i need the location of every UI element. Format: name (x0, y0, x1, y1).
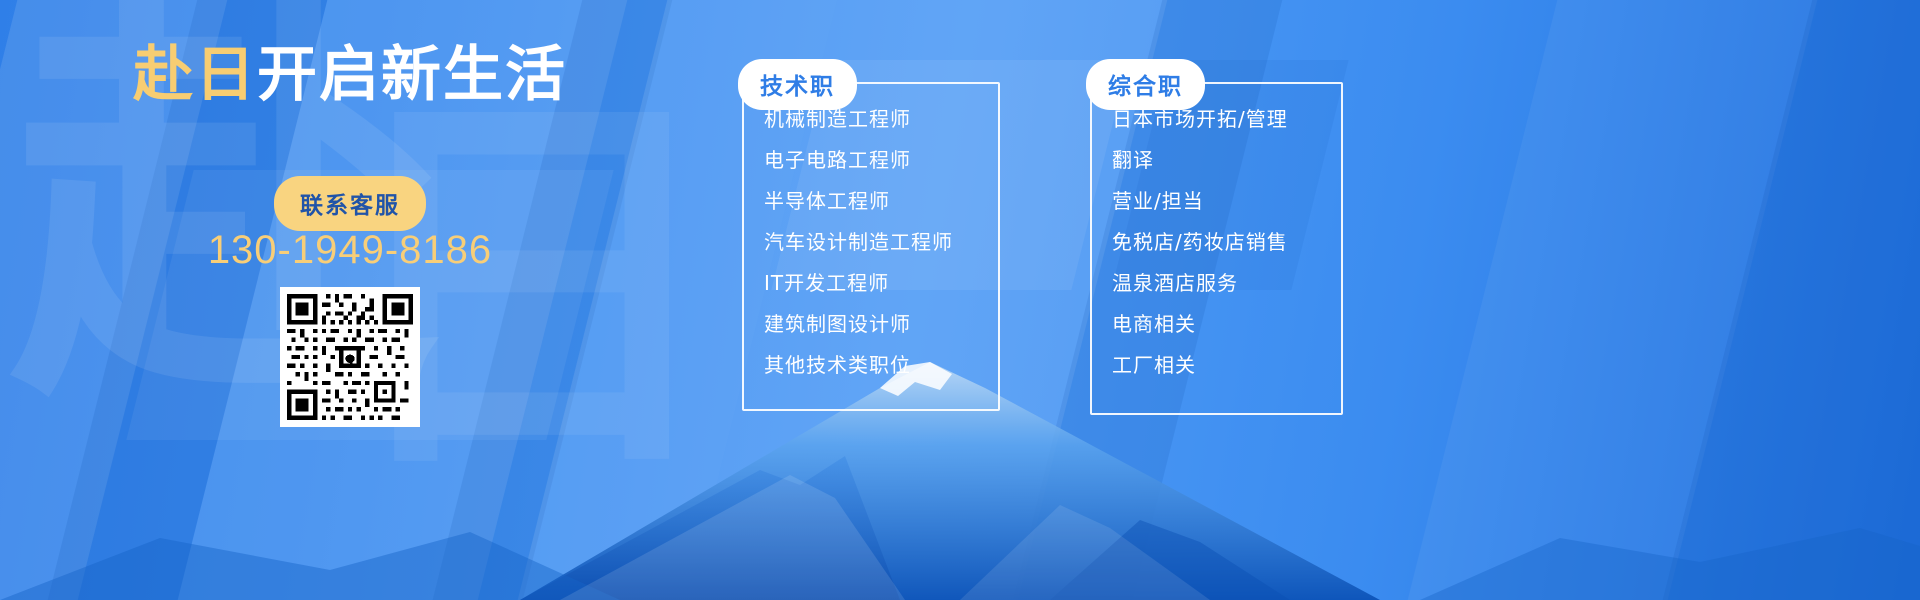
list-item[interactable]: 电子电路工程师 (764, 150, 1000, 170)
list-item[interactable]: 工厂相关 (1112, 355, 1343, 375)
recruitment-banner: 赴 日 赴日开启新生活 联系客服 130-1949- (0, 0, 1920, 600)
contact-customer-service-button[interactable]: 联系客服 (274, 176, 426, 231)
list-item[interactable]: 机械制造工程师 (764, 109, 1000, 129)
job-list-technical: 机械制造工程师 电子电路工程师 半导体工程师 汽车设计制造工程师 IT开发工程师… (742, 82, 1000, 375)
list-item[interactable]: 免税店/药妆店销售 (1112, 232, 1343, 252)
job-panel-technical: 技术职 机械制造工程师 电子电路工程师 半导体工程师 汽车设计制造工程师 IT开… (742, 82, 1000, 396)
list-item[interactable]: 温泉酒店服务 (1112, 273, 1343, 293)
list-item[interactable]: 其他技术类职位 (764, 355, 1000, 375)
list-item[interactable]: 建筑制图设计师 (764, 314, 1000, 334)
qr-code-image (287, 294, 413, 420)
list-item[interactable]: 汽车设计制造工程师 (764, 232, 1000, 252)
job-panel-general: 综合职 日本市场开拓/管理 翻译 营业/担当 免税店/药妆店销售 温泉酒店服务 … (1090, 82, 1343, 396)
list-item[interactable]: IT开发工程师 (764, 273, 1000, 293)
list-item[interactable]: 翻译 (1112, 150, 1343, 170)
page-title: 赴日开启新生活 (0, 42, 700, 108)
list-item[interactable]: 营业/担当 (1112, 191, 1343, 211)
headline-rest: 开启新生活 (257, 40, 567, 110)
qr-code[interactable] (280, 287, 420, 427)
phone-number[interactable]: 130-1949-8186 (0, 228, 700, 273)
list-item[interactable]: 电商相关 (1112, 314, 1343, 334)
job-list-general: 日本市场开拓/管理 翻译 营业/担当 免税店/药妆店销售 温泉酒店服务 电商相关… (1090, 82, 1343, 375)
left-contact-column: 赴日开启新生活 联系客服 130-1949-8186 (0, 0, 700, 600)
list-item[interactable]: 半导体工程师 (764, 191, 1000, 211)
list-item[interactable]: 日本市场开拓/管理 (1112, 109, 1343, 129)
headline-accent: 赴日 (133, 40, 257, 110)
